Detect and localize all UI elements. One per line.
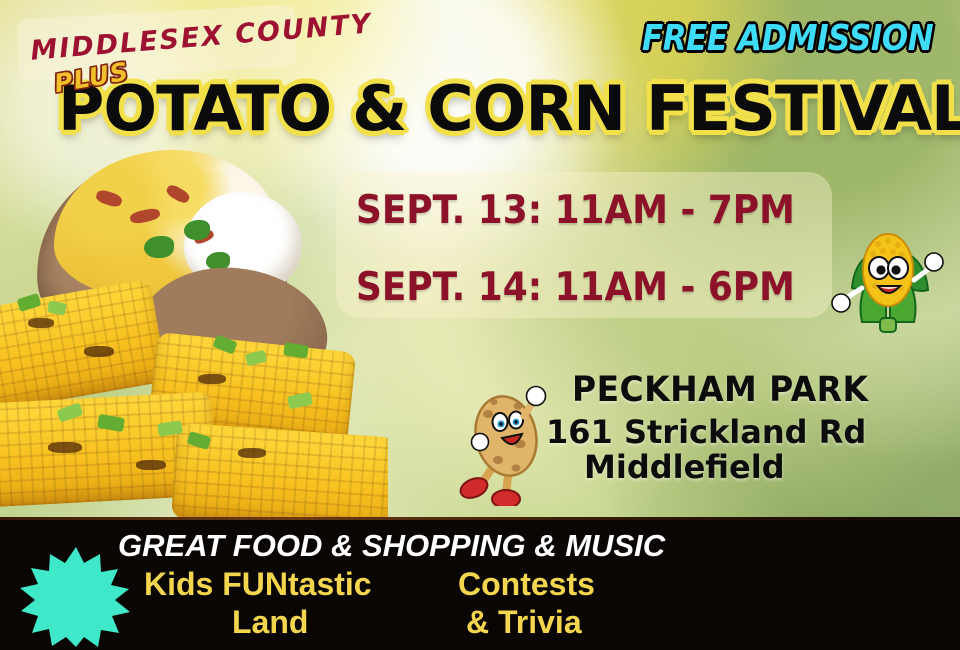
free-admission-badge: FREE ADMISSION <box>642 18 933 59</box>
footer-top-hairline <box>0 517 960 520</box>
char-mark <box>198 374 226 384</box>
feature-contests-line1: Contests <box>458 566 595 603</box>
feature-kids-line1: Kids FUNtastic <box>144 566 372 603</box>
page-title: POTATO & CORN FESTIVAL <box>58 72 960 145</box>
char-mark <box>84 346 114 357</box>
venue-street: 161 Strickland Rd <box>546 413 866 451</box>
parsley-garnish <box>184 220 210 240</box>
char-mark <box>28 318 54 328</box>
venue-name: PECKHAM PARK <box>572 370 868 410</box>
char-mark <box>48 442 82 453</box>
plus-starburst-icon <box>18 545 134 649</box>
date-line-2: SEPT. 14: 11AM - 6PM <box>356 265 795 310</box>
date-line-1: SEPT. 13: 11AM - 7PM <box>356 188 795 233</box>
footer-tagline: GREAT FOOD & SHOPPING & MUSIC <box>118 528 665 564</box>
parsley-garnish <box>144 236 174 258</box>
feature-contests-line2: & Trivia <box>466 604 582 641</box>
potato-mascot-icon <box>458 382 554 506</box>
corn-mascot-icon <box>828 218 948 336</box>
food-photo <box>0 148 388 520</box>
feature-kids-line2: Land <box>232 604 308 641</box>
char-mark <box>136 460 166 470</box>
venue-town: Middlefield <box>584 448 785 486</box>
festival-poster: MIDDLESEX COUNTY FREE ADMISSION POTATO &… <box>0 0 960 650</box>
char-mark <box>238 448 266 458</box>
